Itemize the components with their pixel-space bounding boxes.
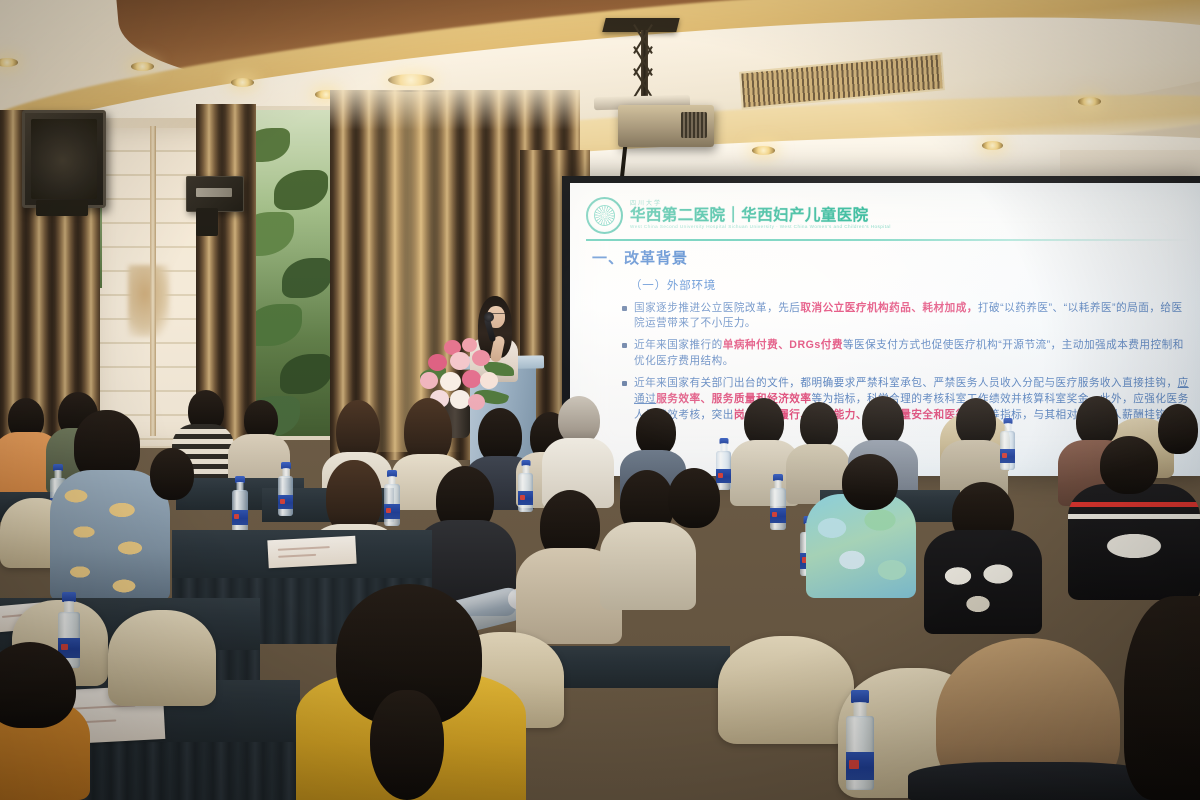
bullet-segment: 近年来国家推行的 bbox=[634, 339, 723, 351]
wall-speaker-right bbox=[186, 176, 244, 212]
slide-heading: 一、改革背景 bbox=[592, 247, 1192, 268]
hospital-name: 华西第二医院｜华西妇产儿童医院 bbox=[630, 208, 891, 224]
attendee-fashion-tee bbox=[1068, 484, 1200, 600]
attendee-cloud-shirt bbox=[50, 470, 170, 600]
attendee-head bbox=[1100, 436, 1158, 494]
attendee-ponytail bbox=[370, 690, 444, 800]
bullet-segment: 取消公立医疗机构药品、耗材加成， bbox=[800, 302, 978, 314]
attendee-head bbox=[800, 402, 838, 448]
hospital-name-english: West China Second University Hospital Si… bbox=[630, 225, 891, 230]
slide-bullet: 国家逐步推进公立医院改革，先后取消公立医疗机构药品、耗材加成，打破“以药养医”、… bbox=[622, 301, 1192, 333]
bullet-dot-icon bbox=[622, 381, 627, 386]
bullet-segment: 近年来国家有关部门出台的文件，都明确要求严禁科室承包、严禁医务人员收入分配与医疗… bbox=[634, 377, 1178, 389]
attendee-head bbox=[668, 468, 720, 528]
downlight-icon bbox=[131, 62, 154, 71]
bullet-segment: 单病种付费、DRGs付费 bbox=[723, 339, 843, 351]
projector-scissor-mount bbox=[626, 30, 662, 98]
paper-handout bbox=[267, 536, 356, 569]
conference-room-photo: 四川大学 华西第二医院｜华西妇产儿童医院 West China Second U… bbox=[0, 0, 1200, 800]
downlight-icon bbox=[1078, 97, 1101, 106]
logo-divider bbox=[586, 239, 1192, 241]
downlight-icon bbox=[752, 146, 775, 155]
water-bottle bbox=[770, 474, 786, 530]
downlight-icon bbox=[388, 74, 434, 86]
bullet-text: 近年来国家推行的单病种付费、DRGs付费等医保支付方式也促使医疗机构“开源节流”… bbox=[634, 338, 1192, 370]
speaker-brand-plate bbox=[196, 188, 232, 197]
water-bottle bbox=[1000, 418, 1015, 470]
attendee-head bbox=[1124, 596, 1200, 800]
speaker-mount-arm bbox=[196, 208, 218, 236]
wall-trim-pole bbox=[150, 126, 156, 436]
downlight-icon bbox=[231, 78, 254, 87]
water-bottle bbox=[716, 438, 731, 490]
water-bottle bbox=[384, 470, 400, 526]
hospital-logo: 四川大学 华西第二医院｜华西妇产儿童医院 West China Second U… bbox=[586, 197, 1192, 234]
bullet-dot-icon bbox=[622, 306, 627, 311]
curtain-top-shadow bbox=[330, 90, 580, 130]
speaker-bracket-left bbox=[36, 200, 88, 216]
attendee-black-graphic-tee bbox=[924, 530, 1042, 634]
attendee-head bbox=[956, 398, 996, 446]
wall-speaker-left bbox=[22, 110, 106, 208]
water-bottle bbox=[232, 476, 248, 532]
bullet-segment: 服务效率、服务质量和经济效率 bbox=[656, 393, 811, 405]
wall-blemish bbox=[128, 265, 170, 337]
speaker-grille-icon bbox=[31, 119, 97, 199]
attendee-head bbox=[150, 448, 194, 500]
attendee-torso bbox=[600, 522, 696, 610]
slide-bullet: 近年来国家推行的单病种付费、DRGs付费等医保支付方式也促使医疗机构“开源节流”… bbox=[622, 338, 1192, 370]
attendee-head bbox=[862, 396, 904, 446]
hospital-seal-icon bbox=[586, 197, 623, 234]
attendee-head bbox=[1158, 404, 1198, 454]
seal-inner-icon bbox=[594, 205, 615, 226]
attendee-head bbox=[1076, 396, 1118, 446]
attendee-gray-hair bbox=[558, 396, 600, 444]
bullet-dot-icon bbox=[622, 343, 627, 348]
water-bottle bbox=[846, 690, 874, 790]
slide-subheading: （一）外部环境 bbox=[630, 277, 1192, 293]
attendee-head bbox=[842, 454, 898, 510]
attendee-sport-jacket bbox=[806, 494, 916, 598]
microphone-head-icon bbox=[484, 312, 494, 322]
water-bottle bbox=[278, 462, 293, 516]
attendee-head bbox=[636, 408, 676, 456]
attendee-torso bbox=[908, 762, 1158, 800]
ceiling-projector bbox=[618, 105, 714, 147]
water-bottle bbox=[518, 460, 533, 512]
bullet-text: 国家逐步推进公立医院改革，先后取消公立医疗机构药品、耗材加成，打破“以药养医”、… bbox=[634, 301, 1192, 333]
attendee-head bbox=[744, 398, 784, 446]
chair bbox=[718, 636, 854, 744]
bullet-segment: 国家逐步推进公立医院改革，先后 bbox=[634, 302, 800, 314]
projector-lens-icon bbox=[681, 112, 707, 138]
downlight-icon bbox=[982, 141, 1003, 150]
chair bbox=[108, 610, 216, 706]
